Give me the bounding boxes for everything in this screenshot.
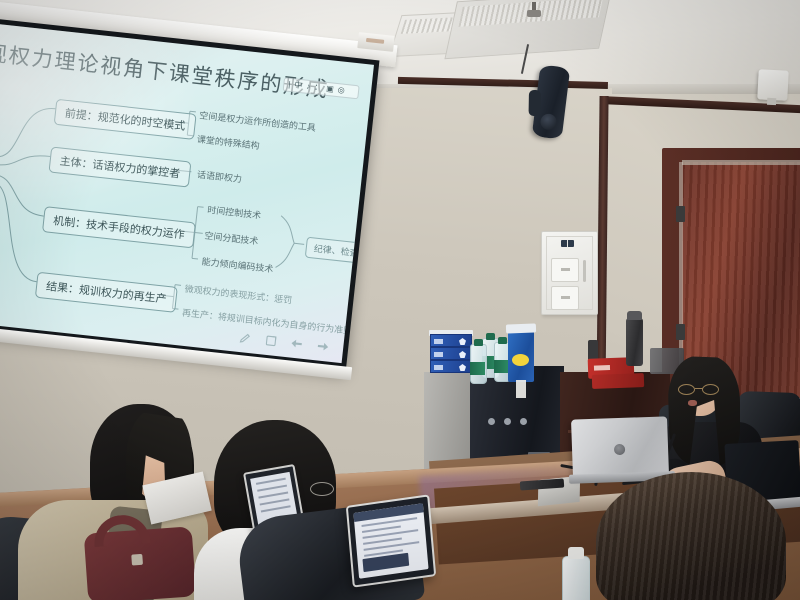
screenshot-root: 微观权力理论视角下课堂秩序的形成 | 中 ♪ ： ▣ ◎ 成 bbox=[0, 0, 800, 600]
blue-package bbox=[508, 330, 534, 382]
presentation-slide: 微观权力理论视角下课堂秩序的形成 | 中 ♪ ： ▣ ◎ 成 bbox=[0, 20, 374, 364]
glasses-icon bbox=[678, 384, 724, 395]
projection-screen: 微观权力理论视角下课堂秩序的形成 | 中 ♪ ： ▣ ◎ 成 bbox=[0, 14, 379, 379]
foreground-tablet[interactable] bbox=[346, 494, 436, 587]
laptop-logo-icon bbox=[614, 444, 625, 455]
red-box-lower bbox=[592, 373, 644, 389]
handbag bbox=[84, 526, 197, 600]
sprinkler-head-icon bbox=[527, 2, 541, 18]
export-icon[interactable] bbox=[264, 334, 278, 348]
foreground-water-bottle bbox=[562, 556, 590, 600]
water-bottle-3 bbox=[470, 344, 487, 384]
panel-switch-upper[interactable] bbox=[551, 258, 579, 282]
eyeglasses-side-icon bbox=[310, 482, 334, 496]
attendee-foreground-right bbox=[596, 472, 786, 600]
thermos-flask bbox=[626, 318, 643, 366]
forward-arrow-icon[interactable] bbox=[316, 339, 330, 353]
white-wall-speaker bbox=[757, 69, 789, 101]
presenter-laptop[interactable] bbox=[571, 416, 669, 477]
panel-indicator-icon bbox=[561, 240, 574, 247]
panel-handle[interactable] bbox=[583, 260, 586, 282]
door-hinge-lower bbox=[676, 324, 685, 340]
tissue-box-stack bbox=[430, 334, 472, 374]
wall-control-panel[interactable] bbox=[541, 231, 598, 315]
door-top-gap bbox=[682, 160, 800, 165]
door-hinge-upper bbox=[676, 206, 685, 222]
panel-switch-lower[interactable] bbox=[551, 286, 579, 310]
back-arrow-icon[interactable] bbox=[290, 337, 304, 351]
pencil-icon[interactable] bbox=[238, 331, 252, 345]
